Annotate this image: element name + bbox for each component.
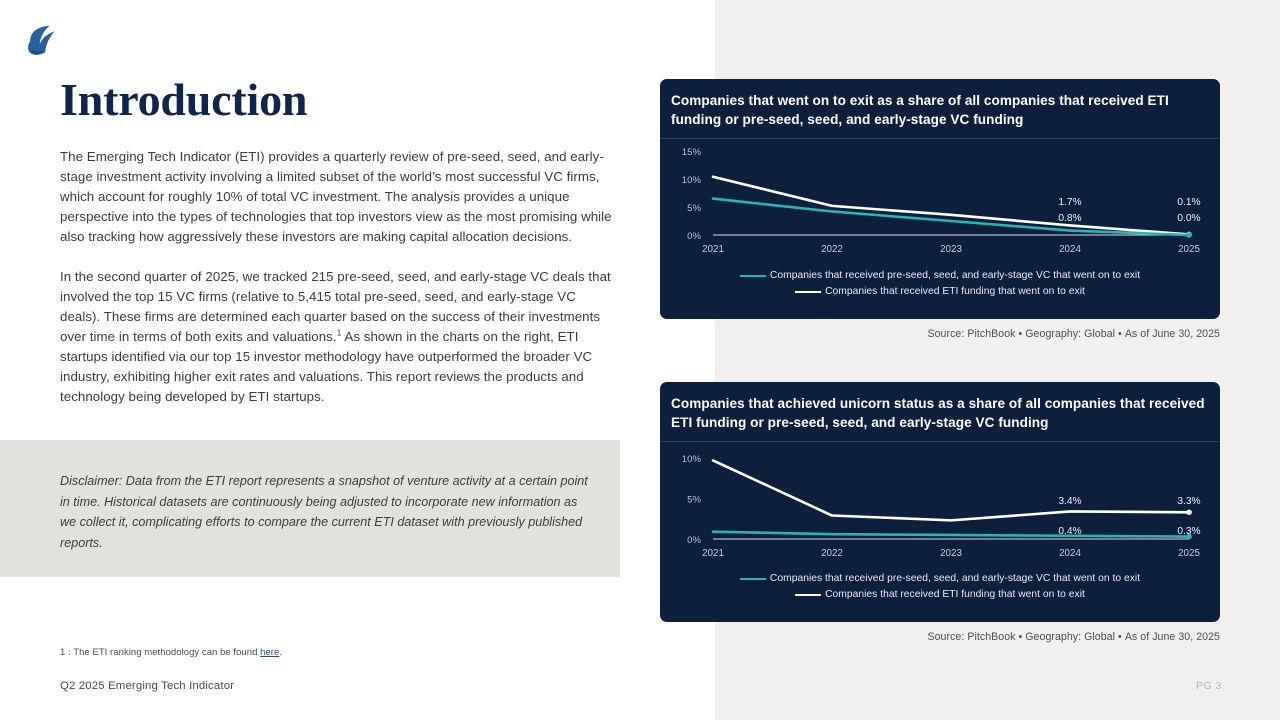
svg-text:2021: 2021 — [702, 244, 724, 255]
svg-text:2024: 2024 — [1059, 548, 1081, 559]
slide-canvas: Introduction The Emerging Tech Indicator… — [0, 0, 1280, 720]
svg-text:0%: 0% — [687, 535, 701, 546]
legend-swatch-white-icon — [795, 291, 821, 293]
legend-label: Companies that received ETI funding that… — [825, 587, 1085, 603]
svg-text:0.0%: 0.0% — [1177, 213, 1200, 224]
pitchbook-logo-icon — [24, 24, 62, 60]
intro-paragraph-2: In the second quarter of 2025, we tracke… — [60, 267, 613, 407]
svg-text:0.8%: 0.8% — [1058, 213, 1081, 224]
legend-item[interactable]: Companies that received pre-seed, seed, … — [660, 268, 1220, 284]
legend-item[interactable]: Companies that received ETI funding that… — [660, 587, 1220, 603]
svg-text:15%: 15% — [682, 147, 702, 158]
svg-text:2024: 2024 — [1059, 244, 1081, 255]
svg-text:0.3%: 0.3% — [1177, 526, 1200, 537]
disclaimer-text: Disclaimer: Data from the ETI report rep… — [60, 471, 590, 553]
page-title: Introduction — [60, 72, 307, 128]
line-chart-svg: 0%5%10%202120222023202420253.4%0.4%3.3%0… — [660, 442, 1220, 567]
chart-source-line: Source: PitchBook•Geography: Global•As o… — [660, 328, 1220, 340]
svg-text:1.7%: 1.7% — [1058, 197, 1081, 208]
svg-text:5%: 5% — [687, 495, 701, 506]
svg-text:10%: 10% — [682, 454, 702, 465]
source-separator-icon: • — [1016, 328, 1026, 340]
svg-text:10%: 10% — [682, 175, 702, 186]
svg-text:2025: 2025 — [1178, 548, 1200, 559]
footer-report-title: Q2 2025 Emerging Tech Indicator — [60, 680, 234, 692]
footnote-suffix: . — [279, 647, 282, 658]
legend-swatch-teal-icon — [740, 275, 766, 277]
svg-text:2022: 2022 — [821, 548, 843, 559]
chart-header: Companies that went on to exit as a shar… — [660, 79, 1220, 139]
page-number: PG 3 — [1196, 681, 1222, 692]
geography-label: Geography: Global — [1025, 328, 1115, 340]
asof-label: As of June 30, 2025 — [1125, 328, 1220, 340]
svg-text:2023: 2023 — [940, 548, 962, 559]
source-separator-icon: • — [1016, 631, 1026, 643]
svg-text:2023: 2023 — [940, 244, 962, 255]
geography-label: Geography: Global — [1025, 631, 1115, 643]
footnote-link[interactable]: here — [260, 647, 279, 658]
legend-item[interactable]: Companies that received ETI funding that… — [660, 284, 1220, 300]
chart-legend: Companies that received pre-seed, seed, … — [660, 264, 1220, 300]
chart-card-exit-share: Companies that went on to exit as a shar… — [660, 79, 1220, 319]
line-chart-svg: 0%5%10%15%202120222023202420251.7%0.8%0.… — [660, 139, 1220, 264]
svg-text:3.4%: 3.4% — [1058, 496, 1081, 507]
source-separator-icon: • — [1115, 328, 1125, 340]
svg-text:2022: 2022 — [821, 244, 843, 255]
legend-label: Companies that received pre-seed, seed, … — [770, 571, 1140, 587]
source-label: Source: PitchBook — [928, 328, 1016, 340]
svg-text:3.3%: 3.3% — [1177, 496, 1200, 507]
chart-legend: Companies that received pre-seed, seed, … — [660, 567, 1220, 603]
legend-item[interactable]: Companies that received pre-seed, seed, … — [660, 571, 1220, 587]
svg-text:2025: 2025 — [1178, 244, 1200, 255]
chart-card-unicorn-share: Companies that achieved unicorn status a… — [660, 382, 1220, 622]
svg-text:2021: 2021 — [702, 548, 724, 559]
legend-swatch-white-icon — [795, 594, 821, 596]
legend-label: Companies that received ETI funding that… — [825, 284, 1085, 300]
chart-header: Companies that achieved unicorn status a… — [660, 382, 1220, 442]
chart-plot-area: 0%5%10%15%202120222023202420251.7%0.8%0.… — [660, 139, 1220, 264]
source-label: Source: PitchBook — [928, 631, 1016, 643]
chart-source-line: Source: PitchBook•Geography: Global•As o… — [660, 631, 1220, 643]
legend-label: Companies that received pre-seed, seed, … — [770, 268, 1140, 284]
legend-swatch-teal-icon — [740, 578, 766, 580]
source-separator-icon: • — [1115, 631, 1125, 643]
svg-text:5%: 5% — [687, 203, 701, 214]
svg-text:0%: 0% — [687, 231, 701, 242]
footnote-prefix: 1 : The ETI ranking methodology can be f… — [60, 647, 260, 658]
asof-label: As of June 30, 2025 — [1125, 631, 1220, 643]
svg-text:0.4%: 0.4% — [1058, 526, 1081, 537]
intro-paragraph-1: The Emerging Tech Indicator (ETI) provid… — [60, 147, 613, 247]
chart-plot-area: 0%5%10%202120222023202420253.4%0.4%3.3%0… — [660, 442, 1220, 567]
footnote: 1 : The ETI ranking methodology can be f… — [60, 646, 282, 659]
chart-title: Companies that went on to exit as a shar… — [671, 91, 1208, 129]
chart-title: Companies that achieved unicorn status a… — [671, 394, 1208, 432]
svg-text:0.1%: 0.1% — [1177, 197, 1200, 208]
